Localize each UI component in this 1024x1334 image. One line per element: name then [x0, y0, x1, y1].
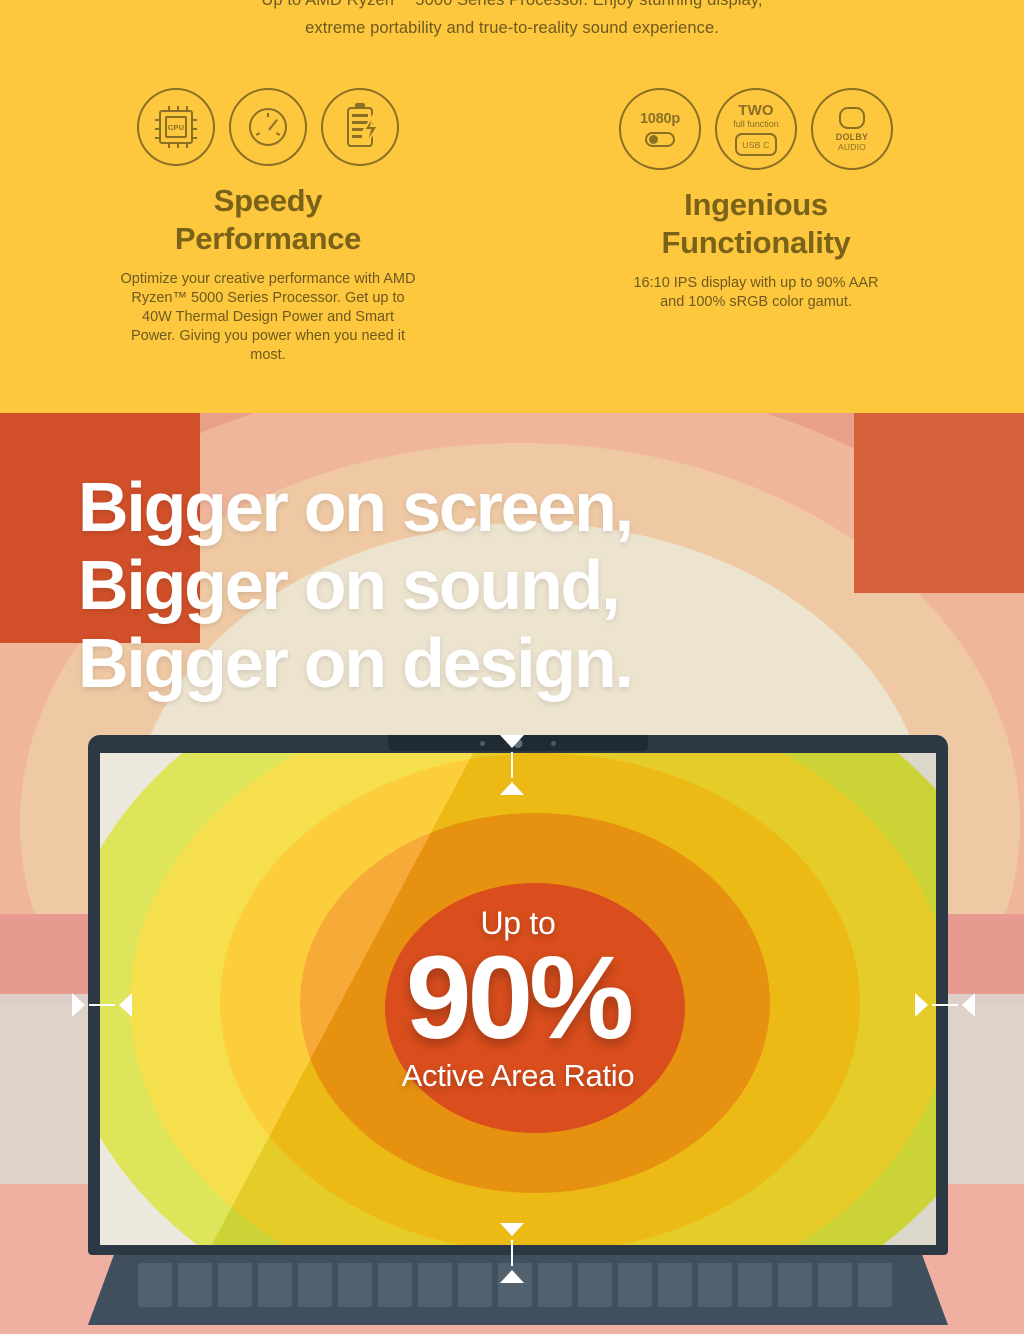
feature-icons-right: 1080p TWO full function USB C — [619, 88, 893, 170]
usb-c-icon-port-label: USB C — [742, 140, 769, 150]
feature-speedy-performance: CPU — [33, 88, 503, 365]
screen-callout-value: 90% — [406, 942, 630, 1054]
speed-gauge-icon — [229, 88, 307, 166]
measure-marker-left — [72, 993, 132, 1017]
hero-headline-line-3: Bigger on design. — [78, 624, 632, 702]
hero-section: Bigger on screen, Bigger on sound, Bigge… — [0, 413, 1024, 1334]
usb-c-icon: TWO full function USB C — [715, 88, 797, 170]
features-panel: Up to AMD Ryzen™ 5000 Series Processor. … — [0, 0, 1024, 413]
cpu-icon: CPU — [137, 88, 215, 166]
cpu-icon-body: CPU — [159, 110, 193, 144]
feature-title-speedy: Speedy Performance — [175, 182, 361, 258]
screen-callout-caption: Active Area Ratio — [402, 1058, 635, 1094]
product-marketing-page: Up to AMD Ryzen™ 5000 Series Processor. … — [0, 0, 1024, 1334]
usb-c-icon-count: TWO — [738, 103, 774, 118]
feature-title-ingenious-line2: Functionality — [662, 224, 851, 262]
screen-callout: Up to 90% Active Area Ratio — [100, 753, 936, 1245]
hero-headline: Bigger on screen, Bigger on sound, Bigge… — [78, 468, 632, 702]
hero-headline-line-1: Bigger on screen, — [78, 468, 632, 546]
feature-title-speedy-line2: Performance — [175, 220, 361, 258]
usb-c-icon-port: USB C — [735, 133, 776, 156]
feature-title-ingenious: Ingenious Functionality — [662, 186, 851, 262]
feature-desc-speedy: Optimize your creative performance with … — [118, 270, 418, 365]
webcam-1080p-icon: 1080p — [619, 88, 701, 170]
dolby-audio-icon-glyph — [839, 107, 865, 129]
webcam-1080p-icon-label: 1080p — [640, 111, 680, 127]
dolby-audio-icon-label: DOLBY — [836, 132, 869, 142]
intro-paragraph: Up to AMD Ryzen™ 5000 Series Processor. … — [0, 0, 1024, 42]
measure-marker-right — [915, 993, 975, 1017]
hero-headline-line-2: Bigger on sound, — [78, 546, 632, 624]
battery-bolt-icon — [321, 88, 399, 166]
intro-line-2: extreme portability and true-to-reality … — [0, 14, 1024, 42]
feature-icons-left: CPU — [137, 88, 399, 166]
usb-c-icon-sublabel: full function — [733, 120, 779, 129]
laptop-lid: Up to 90% Active Area Ratio — [88, 735, 948, 1255]
feature-ingenious-functionality: 1080p TWO full function USB C — [521, 88, 991, 312]
laptop-screen: Up to 90% Active Area Ratio — [100, 753, 936, 1245]
feature-columns: CPU — [0, 88, 1024, 365]
hero-corner-accent-right — [854, 413, 1024, 593]
dolby-audio-icon-sublabel: AUDIO — [838, 142, 866, 152]
feature-title-speedy-line1: Speedy — [175, 182, 361, 220]
measure-marker-top — [500, 735, 524, 795]
cpu-icon-label: CPU — [168, 123, 184, 132]
intro-line-1: Up to AMD Ryzen™ 5000 Series Processor. … — [0, 0, 1024, 14]
webcam-1080p-icon-shutter — [645, 132, 675, 147]
dolby-audio-icon: DOLBY AUDIO — [811, 88, 893, 170]
feature-desc-ingenious: 16:10 IPS display with up to 90% AAR and… — [626, 274, 886, 312]
feature-title-ingenious-line1: Ingenious — [662, 186, 851, 224]
measure-marker-bottom — [500, 1223, 524, 1283]
cpu-icon-core: CPU — [165, 116, 187, 138]
battery-bolt-icon-body — [347, 107, 373, 147]
speed-gauge-icon-dial — [249, 108, 287, 146]
speed-gauge-icon-needle — [268, 119, 278, 130]
